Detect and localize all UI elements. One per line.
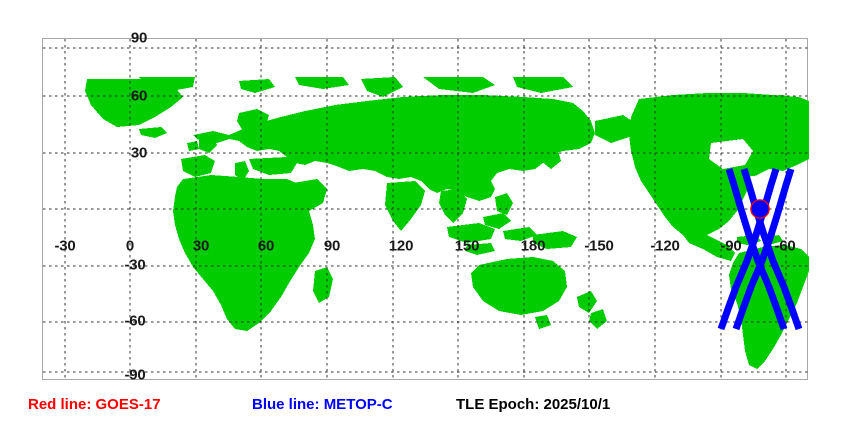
lon-tick--60: -60 — [774, 239, 795, 254]
satellite-ground-track-map: -30 0 30 60 90 120 150 180 -150 -120 -90… — [0, 0, 850, 425]
lon-tick-120: 120 — [389, 239, 413, 254]
legend-entry-goes17: Red line: GOES-17 — [28, 397, 161, 412]
legend-red-label: Red line: — [28, 396, 91, 413]
map-plot-area: -30 0 30 60 90 120 150 180 -150 -120 -90… — [42, 38, 808, 380]
satellite-tracks-layer — [0, 0, 850, 421]
lon-tick--120: -120 — [650, 239, 679, 254]
lon-tick-0: 0 — [126, 239, 134, 254]
legend-entry-tle-epoch: TLE Epoch: 2025/10/1 — [456, 397, 610, 412]
legend-entry-metopc: Blue line: METOP-C — [252, 397, 393, 412]
metopc-marker — [752, 201, 769, 218]
lon-tick-30: 30 — [193, 239, 209, 254]
legend-red-satellite-name: GOES-17 — [96, 396, 161, 413]
lon-tick-180: 180 — [521, 239, 545, 254]
lat-tick-30: 30 — [131, 146, 147, 161]
tle-epoch-value: 2025/10/1 — [544, 396, 611, 413]
lon-tick--90: -90 — [720, 239, 741, 254]
tle-epoch-label: TLE Epoch: — [456, 396, 539, 413]
lon-tick-150: 150 — [455, 239, 479, 254]
lat-tick--60: -60 — [124, 314, 145, 329]
lon-tick--150: -150 — [584, 239, 613, 254]
lat-tick-90: 90 — [131, 31, 147, 46]
map-legend: Red line: GOES-17 Blue line: METOP-C TLE… — [0, 392, 850, 420]
lon-tick-90: 90 — [324, 239, 340, 254]
lon-tick-60: 60 — [258, 239, 274, 254]
lat-tick--90: -90 — [124, 368, 145, 383]
legend-blue-label: Blue line: — [252, 396, 320, 413]
lat-tick--30: -30 — [124, 258, 145, 273]
lat-tick-60: 60 — [131, 89, 147, 104]
lon-tick--30: -30 — [54, 239, 75, 254]
legend-blue-satellite-name: METOP-C — [324, 396, 393, 413]
